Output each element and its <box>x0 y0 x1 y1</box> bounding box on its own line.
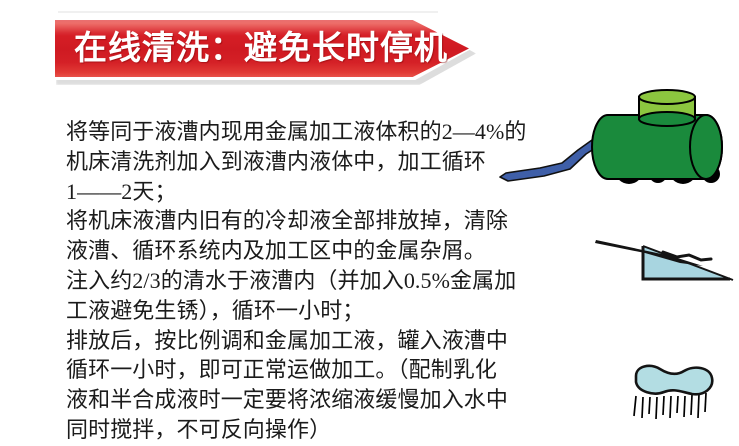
tank-end-cap-icon <box>690 115 722 179</box>
brush-bristles-icon <box>634 393 706 419</box>
tank-cap-base-icon <box>639 112 695 126</box>
text-line: 1——2天； <box>66 177 536 207</box>
tank-cap-top-icon <box>639 90 695 104</box>
text-line: 将机床液漕内旧有的冷却液全部排放掉，清除 <box>66 206 536 236</box>
text-line: 排放后，按比例调和金属加工液，罐入液漕中 <box>66 326 536 356</box>
slide-canvas: 在线清洗：避免长时停机 将等同于液漕内现用金属加工液体积的2—4%的 机床清洗剂… <box>0 0 739 446</box>
text-line: 液和半合成液时一定要将浓缩液缓慢加入水中 <box>66 385 536 415</box>
brush-head-icon <box>636 366 712 394</box>
text-line: 工液避免生锈），循环一小时； <box>66 296 536 326</box>
text-line: 机床清洗剂加入到液漕内液体中，加工循环 <box>66 147 536 177</box>
text-line: 循环一小时，即可正常运做加工。（配制乳化 <box>66 355 536 385</box>
cleaning-brush-illustration <box>612 358 739 434</box>
green-tank-cart-illustration <box>500 84 739 196</box>
text-line: 注入约2/3的清水于液漕内（并加入0.5%金属加 <box>66 266 536 296</box>
page-title: 在线清洗：避免长时停机 <box>74 17 448 80</box>
text-line: 液漕、循环系统内及加工区中的金属杂屑。 <box>66 236 536 266</box>
text-line: 同时搅拌，不可反向操作） <box>66 415 536 445</box>
instruction-text-block: 将等同于液漕内现用金属加工液体积的2—4%的 机床清洗剂加入到液漕内液体中，加工… <box>66 117 536 445</box>
blue-wedge-illustration <box>585 226 739 304</box>
top-divider-rule <box>58 11 438 13</box>
title-banner: 在线清洗：避免长时停机 <box>52 17 476 85</box>
text-line: 将等同于液漕内现用金属加工液体积的2—4%的 <box>66 117 536 147</box>
